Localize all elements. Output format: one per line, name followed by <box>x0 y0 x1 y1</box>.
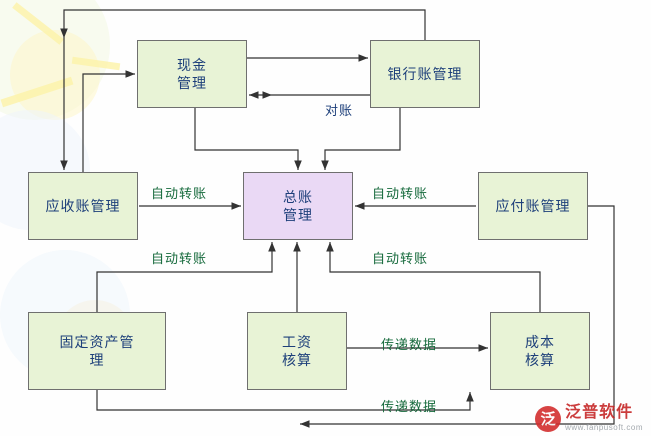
edge-label-pass-data-bottom: 传递数据 <box>381 396 437 415</box>
diagram-canvas: 现金 管理 银行账管理 应收账管理 总账 管理 应付账管理 固定资产管 理 工资… <box>0 0 651 436</box>
node-cash-management[interactable]: 现金 管理 <box>137 40 247 108</box>
logo-domain-text: www.fanpusoft.com <box>565 424 643 432</box>
node-cost-accounting[interactable]: 成本 核算 <box>490 312 590 390</box>
node-general-ledger[interactable]: 总账 管理 <box>243 172 353 240</box>
edge-label-reconcile: 对账 <box>325 100 353 119</box>
node-label: 银行账管理 <box>388 65 463 83</box>
node-fixed-asset-management[interactable]: 固定资产管 理 <box>28 312 166 390</box>
edge-label-auto-transfer-ap: 自动转账 <box>372 183 428 202</box>
node-label: 工资 核算 <box>282 333 312 369</box>
node-bank-account-management[interactable]: 银行账管理 <box>370 40 480 108</box>
logo-mark-icon: 泛 <box>535 406 561 432</box>
node-label: 固定资产管 理 <box>60 333 135 369</box>
edge-label-auto-transfer-asset: 自动转账 <box>151 248 207 267</box>
edge-label-pass-data-payroll-cost: 传递数据 <box>381 334 437 353</box>
node-accounts-payable[interactable]: 应付账管理 <box>478 172 588 240</box>
edge-label-auto-transfer-ar: 自动转账 <box>151 183 207 202</box>
node-label: 成本 核算 <box>525 333 555 369</box>
edge-label-auto-transfer-cost: 自动转账 <box>372 248 428 267</box>
node-accounts-receivable[interactable]: 应收账管理 <box>28 172 138 240</box>
node-payroll-accounting[interactable]: 工资 核算 <box>247 312 347 390</box>
node-label: 应付账管理 <box>496 197 571 215</box>
watermark-logo: 泛 泛普软件 www.fanpusoft.com <box>535 405 643 432</box>
node-label: 总账 管理 <box>283 188 313 224</box>
node-label: 现金 管理 <box>177 56 207 92</box>
node-label: 应收账管理 <box>46 197 121 215</box>
logo-brand-text: 泛普软件 <box>565 405 643 421</box>
